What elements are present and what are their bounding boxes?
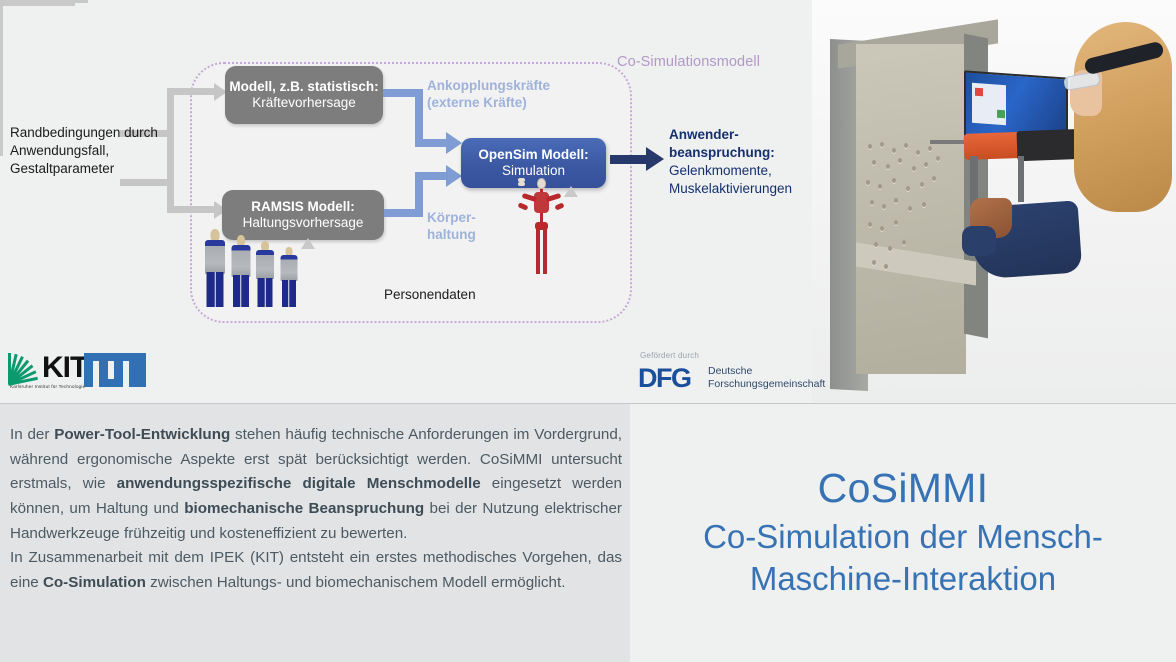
input-conditions-label: Randbedingungen durch Anwendungsfall, Ge… [10,124,180,177]
description-paragraph-2: In Zusammenarbeit mit dem IPEK (KIT) ent… [10,546,622,595]
person-data-line-up-left [0,6,3,55]
ramsis-model-title: RAMSIS Modell: [251,199,355,215]
kit-subtitle: Karlsruher Institut für Technologie [10,384,85,389]
statistical-model-subtitle: Kräftevorhersage [252,95,356,111]
blue-arrowhead-posture [446,165,462,187]
body-posture-label: Körper-haltung [427,209,507,244]
dfg-wordmark: DFG [638,363,691,394]
p1-bold-2: anwendungsspezifische digitale Menschmod… [117,475,481,492]
grey-connector-branch-top [174,88,218,95]
dfg-fullname-line2: Forschungsgemeinschaft [708,378,825,390]
description-panel: In der Power-Tool-Entwicklung stehen häu… [0,404,630,662]
skeleton-right-leg [543,229,547,274]
user-strain-output-label: Anwender-beanspruchung: Gelenkmomente, M… [669,126,819,198]
photo-drill-holes [864,140,954,270]
tum-logo [84,353,146,387]
musculoskeletal-model-figure [518,178,562,278]
grey-connector-horizontal-bottom [120,179,170,186]
skeleton-right-foot [518,182,525,186]
project-acronym: CoSiMMI [818,467,989,510]
p1-bold-3: biomechanische Beanspruchung [184,500,424,517]
kit-wordmark: KIT [42,351,87,385]
p1-seg-a: In der [10,426,54,443]
coupling-forces-label: Ankopplungskräfte (externe Kräfte) [427,77,587,112]
output-arrow-line [610,155,650,164]
skeleton-left-leg [536,229,540,274]
skeleton-left-forearm [517,202,528,211]
statistical-model-title: Modell, z.B. statistisch: [229,79,378,95]
user-strain-title: Anwender-beanspruchung: [669,127,775,160]
lab-photo [812,0,1176,404]
skeleton-ribcage [534,192,549,213]
project-subtitle: Co-Simulation der Mensch- Maschine-Inter… [703,516,1103,599]
dfg-fullname-line1: Deutsche [708,365,752,377]
opensim-model-title: OpenSim Modell: [478,147,588,163]
photo-person-jacket [1028,150,1176,404]
person-data-line-right [0,3,75,6]
p2-bold-1: Co-Simulation [43,574,146,591]
statistical-model-box[interactable]: Modell, z.B. statistisch: Kräftevorhersa… [225,66,383,124]
user-strain-detail: Gelenkmomente, Muskelaktivierungen [669,163,792,196]
person-data-line-up-right [0,55,3,156]
human-model-manikins [204,229,308,307]
dfg-funded-by-text: Gefördert durch [640,351,699,360]
blue-arrowhead-coupling [446,132,462,154]
description-paragraph-1: In der Power-Tool-Entwicklung stehen häu… [10,423,622,546]
title-block: CoSiMMI Co-Simulation der Mensch- Maschi… [630,404,1176,662]
co-simulation-diagram: Co-Simulationsmodell Randbedingungen dur… [0,0,812,345]
p2-seg-c: zwischen Haltungs- und biomechanischem M… [146,574,566,591]
logo-bar: KIT Karlsruher Institut für Technologie … [0,345,812,403]
project-subtitle-line2: Maschine-Interaktion [750,560,1056,597]
person-data-arrowhead-left [301,238,315,249]
co-simulation-model-label: Co-Simulationsmodell [617,54,760,70]
top-section: Co-Simulationsmodell Randbedingungen dur… [0,0,1176,404]
blue-connector-posture-inlet [415,172,450,180]
output-arrowhead [646,147,664,171]
description-text: In der Power-Tool-Entwicklung stehen häu… [10,423,622,595]
manikin [230,235,251,307]
person-data-arrowhead-right [564,186,578,197]
photo-monitor-green-marker [997,110,1005,119]
dfg-logo: Gefördert durch DFG Deutsche Forschungsg… [632,351,832,397]
photo-monitor-red-marker [975,88,983,97]
slide-root: Co-Simulationsmodell Randbedingungen dur… [0,0,1176,662]
dfg-fullname: Deutsche Forschungsgemeinschaft [708,365,825,391]
title-panel: CoSiMMI Co-Simulation der Mensch- Maschi… [630,404,1176,662]
manikin [279,247,298,307]
project-subtitle-line1: Co-Simulation der Mensch- [703,518,1103,555]
opensim-model-subtitle: Simulation [502,163,565,179]
manikin [255,241,275,307]
skeleton-skull [537,178,546,189]
grey-connector-branch-bottom [174,206,218,213]
photo-forearm-sleeve [962,226,996,256]
manikin [204,229,226,307]
photo-rig-post-right [1018,156,1024,202]
person-data-label: Personendaten [384,286,476,304]
p1-bold-1: Power-Tool-Entwicklung [54,426,230,443]
blue-connector-coupling-inlet [415,139,450,147]
